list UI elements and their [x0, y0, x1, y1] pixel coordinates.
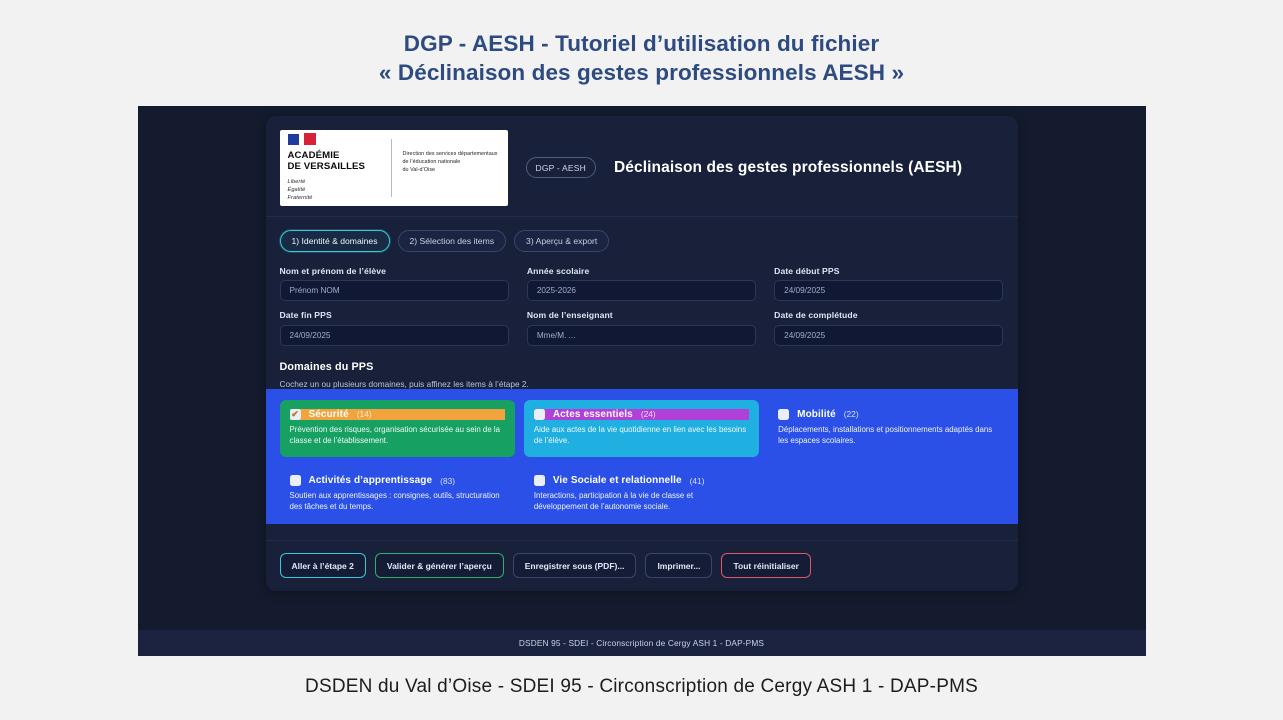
academie-name: ACADÉMIE DE VERSAILLES [288, 150, 380, 173]
motto-egalite: Égalité [288, 186, 380, 194]
domain-count: (22) [844, 409, 859, 419]
checkbox-vie-sociale[interactable] [534, 475, 545, 486]
app-title: Déclinaison des gestes professionnels (A… [614, 159, 962, 177]
domain-description: Interactions, participation à la vie de … [534, 491, 749, 513]
tab-identite-domaines[interactable]: 1) Identité & domaines [280, 230, 390, 252]
app-footer: DSDEN 95 - SDEI - Circonscription de Cer… [138, 630, 1146, 656]
goto-step2-button[interactable]: Aller à l’étape 2 [280, 553, 366, 578]
slide-title: DGP - AESH - Tutoriel d’utilisation du f… [379, 30, 904, 88]
domain-description: Aide aux actes de la vie quotidienne en … [534, 425, 749, 447]
domain-card-header: ✔ Sécurité (14) [290, 409, 505, 420]
field-date-debut-pps: Date début PPS 24/09/2025 [774, 266, 1003, 302]
action-bar: Aller à l’étape 2 Valider & générer l’ap… [266, 540, 1018, 591]
checkbox-actes-essentiels[interactable] [534, 409, 545, 420]
domain-description: Soutien aux apprentissages : consignes, … [290, 491, 505, 513]
field-label: Date de complétude [774, 310, 1003, 320]
reset-all-button[interactable]: Tout réinitialiser [721, 553, 811, 578]
validate-preview-button[interactable]: Valider & générer l’aperçu [375, 553, 504, 578]
motto-fraternite: Fraternité [288, 194, 380, 202]
field-date-fin-pps: Date fin PPS 24/09/2025 [280, 310, 509, 346]
field-annee-scolaire: Année scolaire 2025-2026 [527, 266, 756, 302]
slide-title-line-2: « Déclinaison des gestes professionnels … [379, 59, 904, 88]
domain-count: (14) [357, 409, 372, 419]
step-tabs: 1) Identité & domaines 2) Sélection des … [266, 217, 1018, 252]
domain-name: Activités d’apprentissage [309, 475, 433, 486]
domain-card-header: Vie Sociale et relationnelle (41) [534, 475, 749, 486]
domains-subtitle: Cochez un ou plusieurs domaines, puis af… [280, 379, 1004, 389]
app-window: ACADÉMIE DE VERSAILLES Liberté Égalité F… [138, 106, 1146, 656]
logo-divider [391, 139, 392, 197]
domain-card-header: Mobilité (22) [778, 409, 993, 420]
field-date-completude: Date de complétude 24/09/2025 [774, 310, 1003, 346]
domains-title: Domaines du PPS [280, 361, 1004, 373]
domain-description: Prévention des risques, organisation séc… [290, 425, 505, 447]
field-nom-enseignant: Nom de l’enseignant Mme/M. ... [527, 310, 756, 346]
domain-name: Actes essentiels [553, 409, 633, 420]
domain-name: Vie Sociale et relationnelle [553, 475, 682, 486]
domain-count: (41) [690, 476, 705, 486]
input-annee-scolaire[interactable]: 2025-2026 [527, 280, 756, 301]
domain-name: Sécurité [309, 409, 349, 420]
checkbox-mobilite[interactable] [778, 409, 789, 420]
app-badge-dgp-aesh: DGP - AESH [526, 157, 597, 178]
domain-card-securite[interactable]: ✔ Sécurité (14) Prévention des risques, … [280, 400, 515, 458]
dsden-subtitle: Direction des services départementaux de… [403, 150, 498, 175]
republic-motto: Liberté Égalité Fraternité [288, 178, 380, 202]
academie-line-2: DE VERSAILLES [288, 161, 380, 172]
domain-count: (24) [641, 409, 656, 419]
app-header: ACADÉMIE DE VERSAILLES Liberté Égalité F… [266, 126, 1018, 217]
academie-versailles-logo: ACADÉMIE DE VERSAILLES Liberté Égalité F… [280, 130, 508, 206]
domains-section-header: Domaines du PPS Cochez un ou plusieurs d… [266, 346, 1018, 389]
domain-card-activites-apprentissage[interactable]: Activités d’apprentissage (83) Soutien a… [280, 466, 515, 524]
domain-description: Déplacements, installations et positionn… [778, 425, 993, 447]
slide-footer: DSDEN du Val d’Oise - SDEI 95 - Circonsc… [305, 676, 978, 698]
tab-apercu-export[interactable]: 3) Aperçu & export [514, 230, 609, 252]
input-nom-enseignant[interactable]: Mme/M. ... [527, 325, 756, 346]
domain-name: Mobilité [797, 409, 836, 420]
field-nom-eleve: Nom et prénom de l’élève Prénom NOM [280, 266, 509, 302]
slide-title-line-1: DGP - AESH - Tutoriel d’utilisation du f… [379, 30, 904, 59]
input-date-completude[interactable]: 24/09/2025 [774, 325, 1003, 346]
domain-card-actes-essentiels[interactable]: Actes essentiels (24) Aide aux actes de … [524, 400, 759, 458]
print-button[interactable]: Imprimer... [645, 553, 712, 578]
domain-card-grid: ✔ Sécurité (14) Prévention des risques, … [266, 389, 1018, 525]
field-label: Nom de l’enseignant [527, 310, 756, 320]
tab-selection-items[interactable]: 2) Sélection des items [398, 230, 507, 252]
field-label: Date fin PPS [280, 310, 509, 320]
domain-count: (83) [440, 476, 455, 486]
identity-form: Nom et prénom de l’élève Prénom NOM Anné… [266, 252, 1018, 346]
field-label: Année scolaire [527, 266, 756, 276]
dsden-line-3: du Val-d’Oise [403, 166, 498, 174]
academie-line-1: ACADÉMIE [288, 150, 380, 161]
checkbox-securite[interactable]: ✔ [290, 409, 301, 420]
logo-left-block: ACADÉMIE DE VERSAILLES Liberté Égalité F… [288, 133, 380, 202]
input-date-debut-pps[interactable]: 24/09/2025 [774, 280, 1003, 301]
domain-card-header: Actes essentiels (24) [534, 409, 749, 420]
dsden-line-2: de l’éducation nationale [403, 158, 498, 166]
domain-card-vie-sociale[interactable]: Vie Sociale et relationnelle (41) Intera… [524, 466, 759, 524]
app-panel: ACADÉMIE DE VERSAILLES Liberté Égalité F… [266, 116, 1018, 592]
input-date-fin-pps[interactable]: 24/09/2025 [280, 325, 509, 346]
french-flag-icon [288, 133, 322, 145]
field-label: Nom et prénom de l’élève [280, 266, 509, 276]
field-label: Date début PPS [774, 266, 1003, 276]
domain-card-header: Activités d’apprentissage (83) [290, 475, 505, 486]
checkbox-activites-apprentissage[interactable] [290, 475, 301, 486]
motto-liberte: Liberté [288, 178, 380, 186]
dsden-line-1: Direction des services départementaux [403, 150, 498, 158]
save-pdf-button[interactable]: Enregistrer sous (PDF)... [513, 553, 637, 578]
domain-card-mobilite[interactable]: Mobilité (22) Déplacements, installation… [768, 400, 1003, 458]
input-nom-eleve[interactable]: Prénom NOM [280, 280, 509, 301]
